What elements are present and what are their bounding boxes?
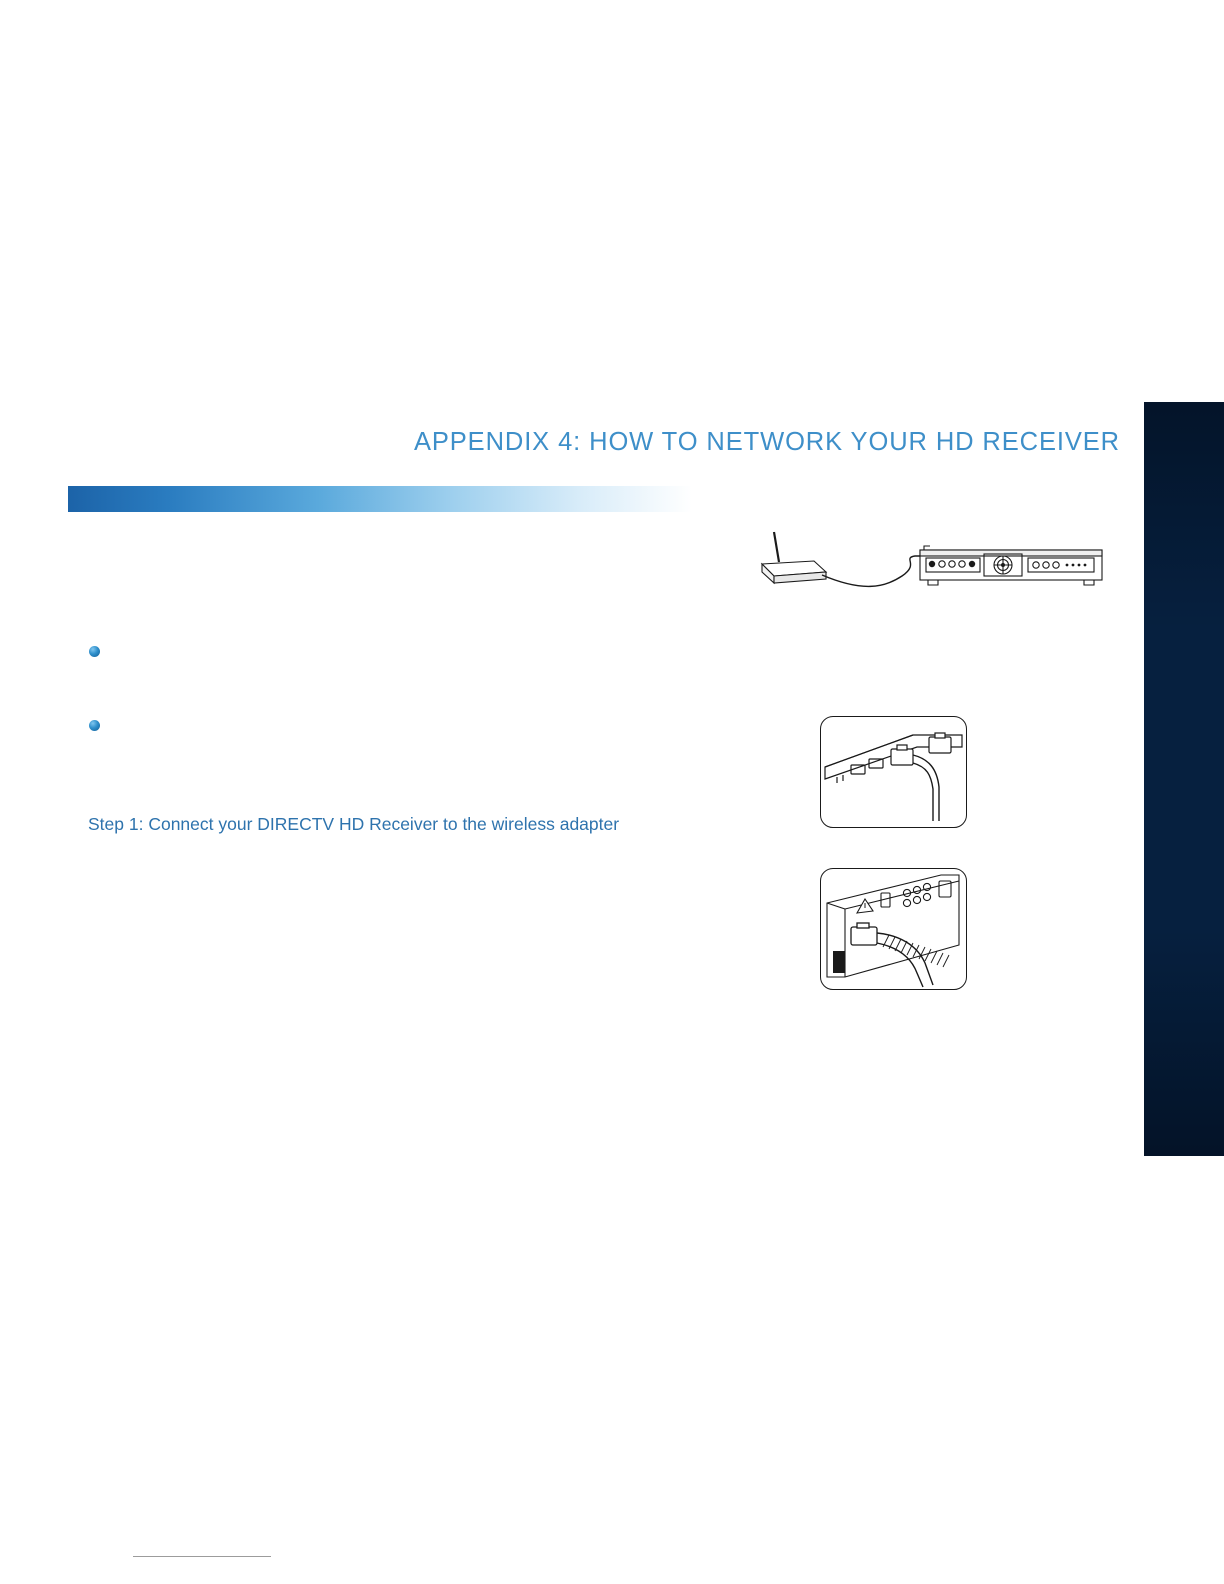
title-gradient-rule (68, 486, 692, 512)
bullet-point-1 (89, 646, 100, 657)
figure-router-to-receiver (752, 528, 1120, 600)
footer-rule (133, 1556, 271, 1557)
step-1-heading: Step 1: Connect your DIRECTV HD Receiver… (88, 812, 648, 836)
figure-receiver-port-closeup (820, 868, 967, 990)
page-title: APPENDIX 4: HOW TO NETWORK YOUR HD RECEI… (0, 428, 1120, 457)
right-edge-decorative-band (1144, 402, 1224, 1156)
bullet-point-2 (89, 720, 100, 731)
figure-router-port-closeup (820, 716, 967, 828)
